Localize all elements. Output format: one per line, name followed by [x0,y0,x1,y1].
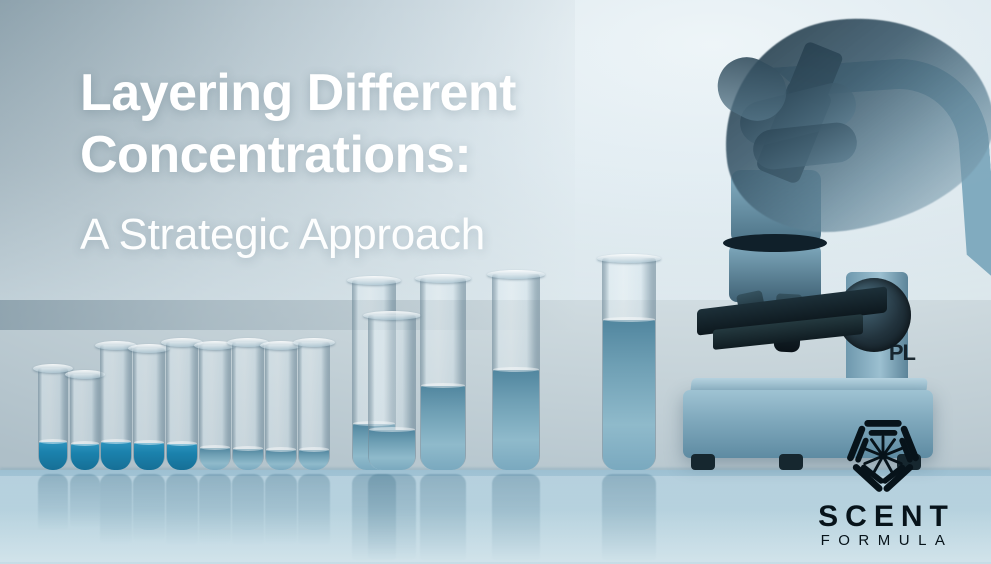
liquid-fill [603,320,655,470]
test-tube [133,348,165,470]
brand-tagline: FORMULA [801,532,973,550]
liquid-meniscus [266,447,296,452]
liquid-meniscus [493,367,539,372]
liquid-fill [101,442,131,470]
liquid-fill [39,442,67,470]
glassware-reflection [232,474,264,544]
liquid-fill [369,430,415,470]
liquid-fill [266,450,296,470]
title-line-1: Layering Different [80,62,700,124]
liquid-fill [233,449,263,470]
microscope-brand-label: PL [889,340,915,366]
liquid-meniscus [101,439,131,444]
liquid-meniscus [39,439,67,444]
test-tube [199,345,231,470]
microscope-nosepiece-ring [723,234,827,252]
glassware-reflection [298,474,330,544]
glassware-reflection [265,474,297,543]
liquid-fill [299,450,329,470]
glassware-reflection [38,474,68,530]
glassware-reflection [133,474,165,541]
test-tube [100,345,132,470]
liquid-meniscus [134,440,164,445]
liquid-meniscus [299,447,329,452]
pentagon-molecule-icon [835,408,931,500]
test-tube [265,345,297,470]
glassware-reflection [100,474,132,543]
liquid-meniscus [421,383,465,388]
microscope-foot-left [691,454,715,470]
test-tube [166,342,198,470]
liquid-fill [493,370,539,470]
glass-rim [487,270,545,279]
glassware-reflection [602,474,656,560]
subtitle: A Strategic Approach [80,208,700,262]
test-tube [38,368,68,470]
graduated-cylinder [492,274,540,470]
liquid-meniscus [200,445,230,450]
liquid-fill [200,448,230,470]
brand-name: SCENT [800,502,973,532]
glass-rim [363,311,421,320]
test-tube [298,342,330,470]
glass-rim [415,274,471,283]
graduated-cylinder [368,315,416,470]
brand-logo: SCENT FORMULA [793,408,973,550]
glass-rim [347,276,401,285]
test-tube [70,374,100,470]
liquid-meniscus [603,317,655,322]
graduated-cylinder [602,258,656,470]
graduated-cylinder [420,278,466,470]
liquid-meniscus [233,446,263,451]
glass-rim [293,338,335,347]
liquid-fill [167,444,197,470]
title-line-2: Concentrations: [80,124,700,186]
glass-rim [128,344,170,353]
glass-rim [65,370,105,379]
liquid-fill [71,444,99,470]
test-tube [232,342,264,470]
liquid-meniscus [71,441,99,446]
liquid-meniscus [167,441,197,446]
glassware-reflection [368,474,416,559]
glassware-reflection [166,474,198,544]
glassware-reflection [420,474,466,560]
headline-block: Layering Different Concentrations: A Str… [80,62,700,262]
liquid-fill [134,443,164,470]
hero-banner: PL Layering Different Concentrations: A … [0,0,991,564]
liquid-fill [421,386,465,470]
glassware-reflection [492,474,540,560]
glassware-reflection [199,474,231,543]
glassware-reflection [70,474,100,527]
liquid-meniscus [369,427,415,432]
